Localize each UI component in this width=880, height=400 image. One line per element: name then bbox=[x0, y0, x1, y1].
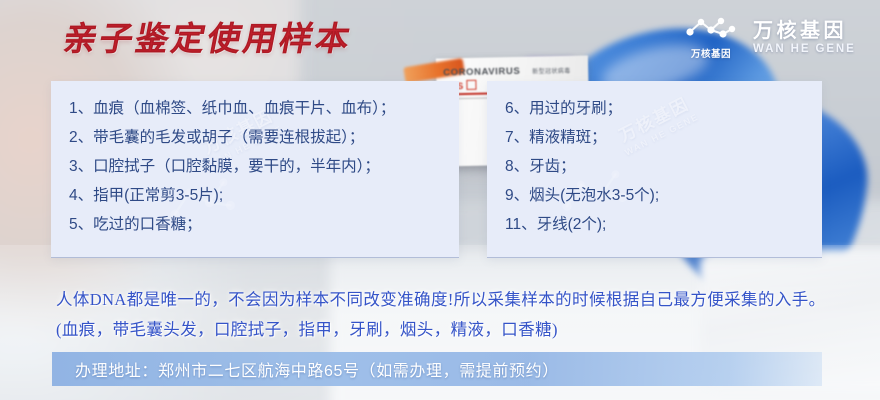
list-item: 4、指甲(正常剪3-5片); bbox=[69, 181, 459, 210]
test-kit-title: CORONAVIRUS bbox=[443, 66, 520, 79]
checkbox-icon bbox=[467, 80, 477, 90]
description-paragraph: 人体DNA都是唯一的，不会因为样本不同改变准确度!所以采集样本的时候根据自己最方… bbox=[56, 285, 846, 345]
list-item: 9、烟头(无泡水3-5个); bbox=[505, 181, 822, 210]
test-kit-subtitle: 新型冠状病毒 bbox=[532, 66, 571, 76]
address-bar: 办理地址：郑州市二七区航海中路65号（如需办理，需提前预约） bbox=[52, 352, 822, 386]
page-title: 亲子鉴定使用样本 bbox=[61, 22, 355, 55]
list-item: 1、血痕（血棉签、纸巾血、血痕干片、血布）； bbox=[69, 94, 459, 123]
list-item: 5、吃过的口香糖； bbox=[69, 210, 459, 239]
sample-list-panel-right: 万核基因 WAN HE GENE 6、用过的牙刷； 7、精液精斑； 8、牙齿； … bbox=[487, 81, 822, 257]
address-text: 办理地址：郑州市二七区航海中路65号（如需办理，需提前预约） bbox=[75, 357, 559, 381]
brand-logo: 万核基因 万核基因 WAN HE GENE bbox=[683, 16, 856, 60]
list-item: 6、用过的牙刷； bbox=[505, 94, 822, 123]
brand-name-en: WAN HE GENE bbox=[753, 43, 856, 56]
sample-list-left: 1、血痕（血棉签、纸巾血、血痕干片、血布）； 2、带毛囊的毛发或胡子（需要连根拔… bbox=[51, 81, 459, 239]
brand-mark: 万核基因 bbox=[683, 16, 739, 60]
list-item: 11、牙线(2个); bbox=[505, 210, 822, 239]
list-item: 2、带毛囊的毛发或胡子（需要连根拔起）； bbox=[69, 123, 459, 152]
sample-list-panel-left: 万核基因 WAN HE GENE 1、血痕（血棉签、纸巾血、血痕干片、血布）； … bbox=[51, 81, 459, 257]
brand-mark-label: 万核基因 bbox=[691, 46, 731, 60]
brand-name-cn: 万核基因 bbox=[753, 21, 856, 42]
list-item: 8、牙齿； bbox=[505, 152, 822, 181]
poster-canvas: CORONAVIRUS POS 新型冠状病毒 亲子鉴定使用样本 bbox=[0, 0, 880, 400]
list-item: 3、口腔拭子（口腔黏膜，要干的，半年内）； bbox=[69, 152, 459, 181]
brand-wordmark: 万核基因 WAN HE GENE bbox=[753, 21, 856, 56]
sample-list-right: 6、用过的牙刷； 7、精液精斑； 8、牙齿； 9、烟头(无泡水3-5个); 11… bbox=[487, 81, 822, 239]
molecule-network-icon bbox=[683, 16, 739, 44]
list-item: 7、精液精斑； bbox=[505, 123, 822, 152]
